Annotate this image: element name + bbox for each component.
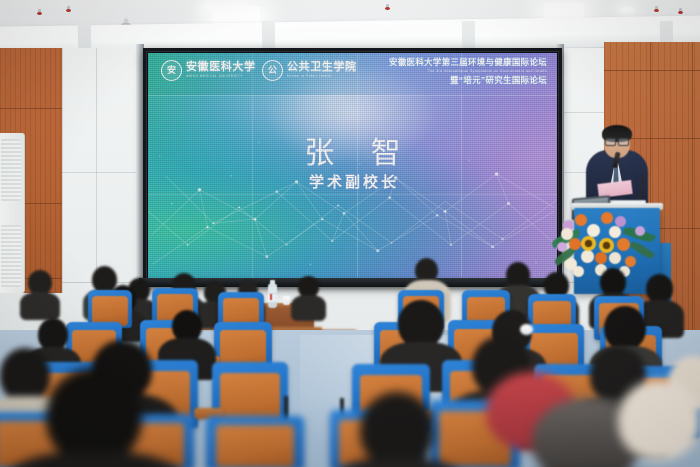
white-rose-icon — [609, 226, 621, 238]
conference-subtitle-cn: 暨“培元”研究生国际论坛 — [389, 76, 547, 86]
white-rose-icon — [609, 252, 621, 264]
recessed-light-icon — [620, 7, 634, 12]
speaker-name-text: 张 智 — [148, 128, 557, 172]
speaker-role-text: 学术副校长 — [148, 171, 557, 192]
conference-title-block: 安徽医科大学第三届环境与健康国际论坛 The 3rd International… — [389, 58, 547, 85]
sunflower-icon — [599, 238, 614, 253]
university-name-cn: 安徽医科大学 — [186, 62, 256, 73]
water-bottle-icon — [268, 284, 277, 308]
orange-rose-icon — [595, 252, 607, 264]
sunflower-icon — [581, 236, 596, 251]
white-rose-icon — [561, 228, 573, 240]
auditorium-seat[interactable] — [206, 416, 304, 467]
orange-rose-icon — [575, 214, 587, 226]
sprinkler-head-icon — [37, 9, 42, 16]
air-conditioner-unit — [0, 133, 25, 293]
white-rose-icon — [581, 250, 594, 263]
sprinkler-head-icon — [678, 8, 683, 15]
conference-title-cn: 安徽医科大学第三届环境与健康国际论坛 — [389, 58, 547, 68]
wall-seam — [62, 48, 63, 293]
lilac-flower-icon — [557, 242, 567, 252]
white-rose-icon — [573, 266, 584, 277]
university-name-en: ANHUI MEDICAL UNIVERSITY — [186, 75, 256, 78]
orange-rose-icon — [601, 212, 613, 224]
orange-rose-icon — [617, 238, 630, 251]
university-logo: 安 安徽医科大学 ANHUI MEDICAL UNIVERSITY — [161, 60, 256, 81]
eyeglasses-icon — [605, 138, 629, 144]
school-name-en: School of Public Health — [287, 75, 357, 78]
school-logo: 公 公共卫生学院 School of Public Health — [262, 60, 357, 81]
flower-arrangement — [555, 208, 651, 280]
led-panel-seam — [148, 95, 557, 96]
conference-hall-photo: 安 安徽医科大学 ANHUI MEDICAL UNIVERSITY 公 公共卫生… — [0, 0, 700, 467]
paper-cup-icon — [283, 296, 290, 305]
orange-rose-icon — [625, 256, 636, 267]
university-crest-icon: 安 — [161, 60, 182, 81]
wall-seam — [96, 48, 97, 293]
led-panel-seam — [148, 194, 557, 195]
led-video-wall[interactable]: 安 安徽医科大学 ANHUI MEDICAL UNIVERSITY 公 公共卫生… — [143, 48, 562, 286]
sprinkler-head-icon — [66, 6, 71, 13]
lilac-flower-icon — [635, 226, 645, 236]
led-wall-bottom-frame — [139, 278, 560, 287]
conference-title-en: The 3rd International Symposium on Envir… — [389, 69, 547, 74]
sprinkler-head-icon — [385, 4, 390, 11]
orange-rose-icon — [569, 238, 581, 250]
school-name-cn: 公共卫生学院 — [287, 62, 357, 73]
school-crest-icon: 公 — [262, 60, 283, 81]
sprinkler-head-icon — [654, 6, 659, 13]
